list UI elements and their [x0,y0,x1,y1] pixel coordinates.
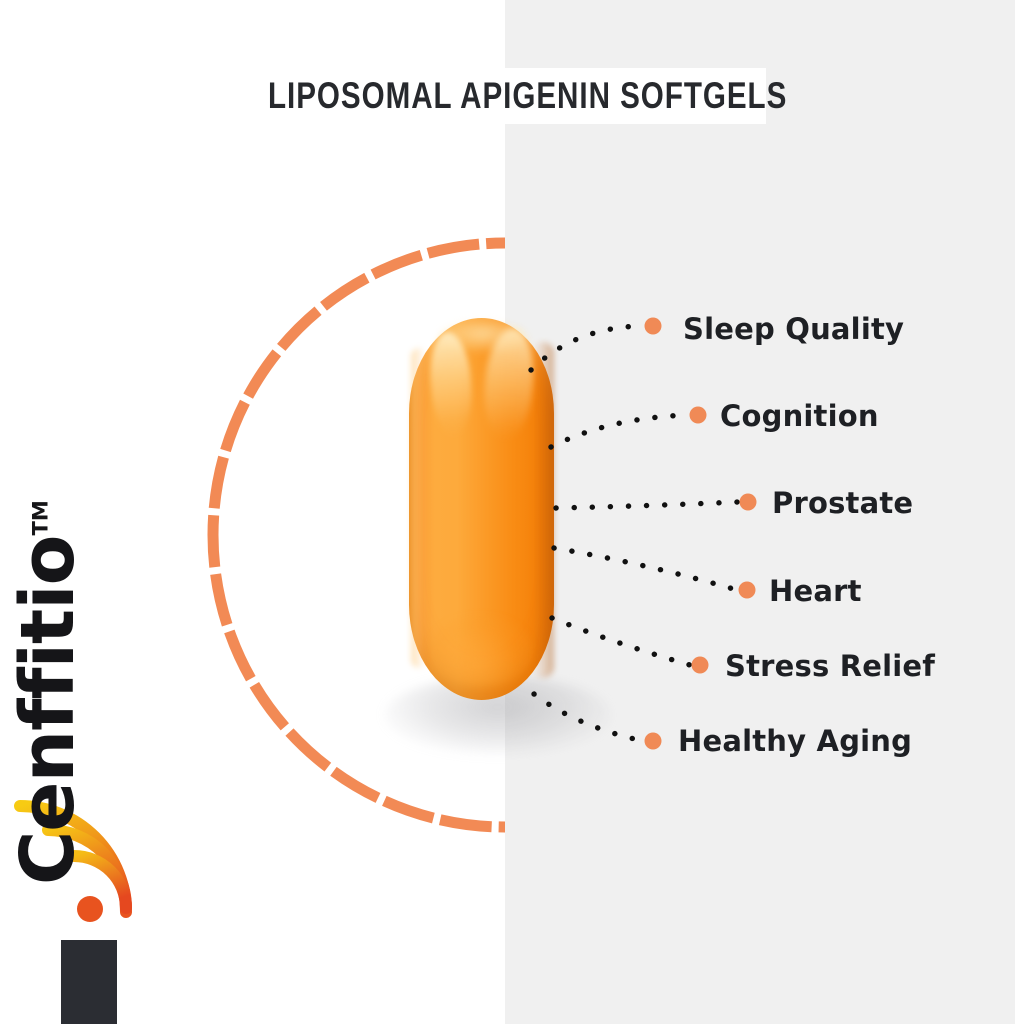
benefit-label-healthy-aging: Healthy Aging [678,724,912,758]
benefit-label-cognition: Cognition [720,399,879,433]
product-infographic: LIPOSOMAL APIGENIN SOFTGELS Sleep Qualit… [0,0,1015,1024]
logo-wordmark: CenffitioTM [5,555,105,885]
logo-trademark: TM [28,500,52,535]
benefit-label-sleep-quality: Sleep Quality [683,312,904,346]
logo-brand-text: Cenffitio [5,535,91,885]
benefit-label-prostate: Prostate [772,486,913,520]
benefit-label-heart: Heart [769,574,862,608]
brand-logo: CenffitioTM [8,520,168,930]
benefit-label-stress-relief: Stress Relief [725,649,935,683]
signal-origin-dot [77,896,103,922]
dark-rectangle-mark [61,940,117,1024]
